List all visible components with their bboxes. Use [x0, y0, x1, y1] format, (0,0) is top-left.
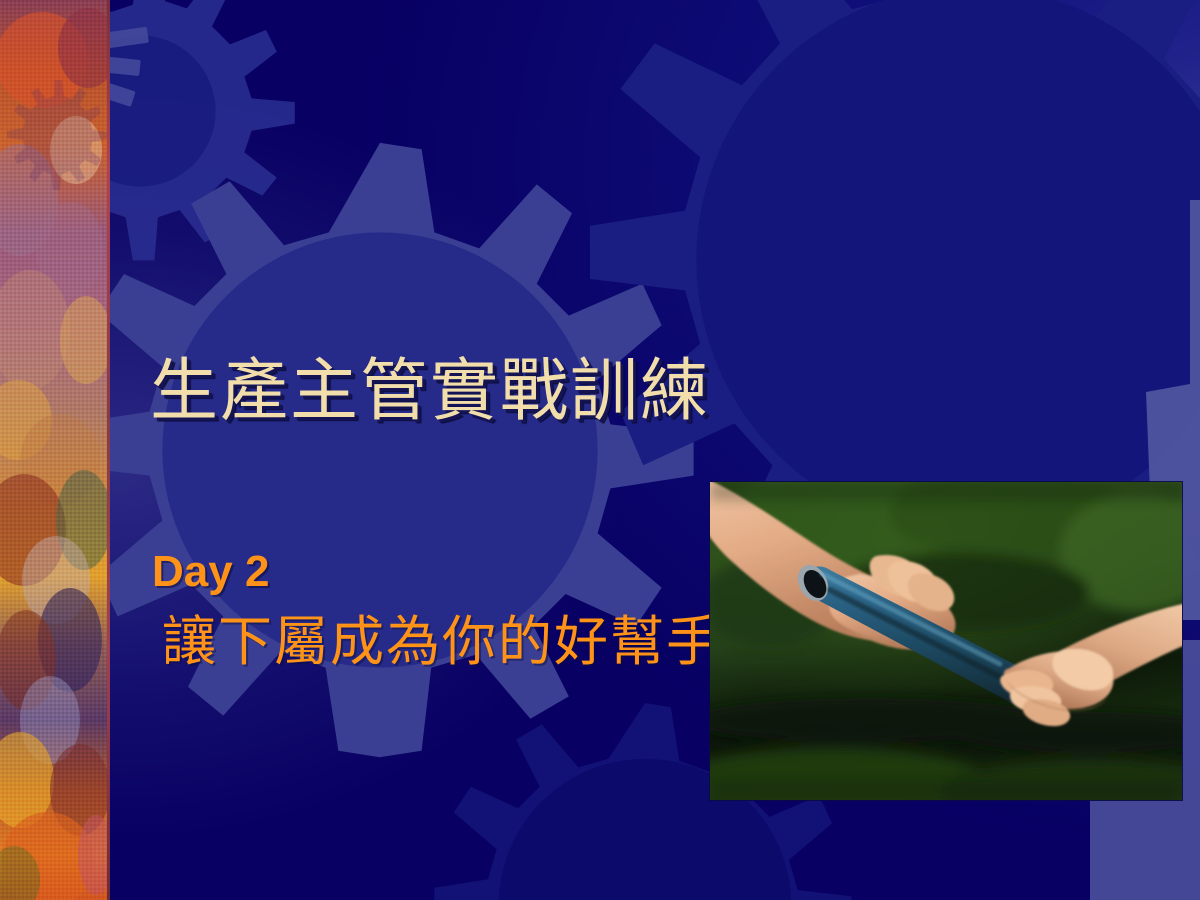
relay-baton-photo: [710, 482, 1182, 800]
gear-icon-strip-teeth: [100, 20, 170, 140]
relay-baton-photo-art: [710, 482, 1182, 800]
subtitle-topic: 讓下屬成為你的好幫手: [162, 612, 752, 672]
side-strip-texture: [0, 0, 110, 900]
title-block: 生產主管實戰訓練: [150, 355, 790, 428]
presentation-slide: 生產主管實戰訓練 Day 2 讓下屬成為你的好幫手: [0, 0, 1200, 900]
subtitle-block: Day 2 讓下屬成為你的好幫手: [152, 548, 752, 673]
decorative-side-strip: [0, 0, 110, 900]
day-label: Day 2: [152, 548, 752, 596]
page-title: 生產主管實戰訓練: [150, 355, 790, 428]
side-strip-edge: [107, 0, 110, 900]
